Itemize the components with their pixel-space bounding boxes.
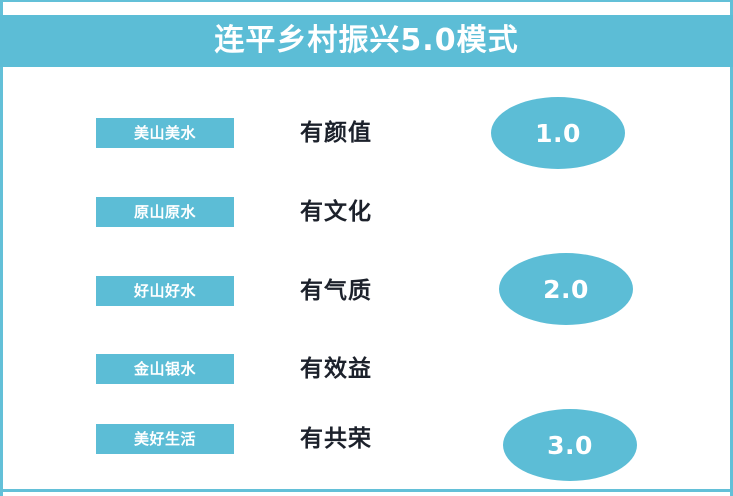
- slide-canvas: 连平乡村振兴5.0模式 美山美水 有颜值 1.0 原山原水 有文化 2.0: [0, 0, 733, 496]
- frame-border-top: [0, 0, 733, 2]
- stage-badge: 美山美水: [96, 118, 234, 148]
- stage-phrase: 有共荣: [300, 417, 450, 461]
- stage-value-ellipse: 1.0: [491, 97, 625, 169]
- stage-phrase-label: 有气质: [300, 280, 372, 303]
- diagram-row: 好山好水 有气质 3.0: [0, 251, 733, 330]
- diagram-row: 原山原水 有文化 2.0: [0, 172, 733, 251]
- diagram-row: 美好生活 有共荣 5.0: [0, 399, 733, 478]
- frame-border-bottom: [0, 489, 733, 492]
- stage-phrase: 有效益: [300, 347, 450, 391]
- stage-badge-label: 美好生活: [134, 432, 196, 447]
- stage-phrase-label: 有文化: [300, 201, 372, 224]
- stage-phrase: 有颜值: [300, 111, 450, 155]
- stage-badge-label: 金山银水: [134, 362, 196, 377]
- stage-badge: 金山银水: [96, 354, 234, 384]
- stage-badge: 好山好水: [96, 276, 234, 306]
- stage-badge-label: 原山原水: [134, 205, 196, 220]
- stage-value-label: 1.0: [535, 121, 581, 146]
- stage-phrase: 有气质: [300, 269, 450, 313]
- stage-phrase-label: 有共荣: [300, 428, 372, 451]
- stage-badge-label: 好山好水: [134, 284, 196, 299]
- stage-phrase-label: 有颜值: [300, 122, 372, 145]
- stage-phrase: 有文化: [300, 190, 450, 234]
- title-banner: 连平乡村振兴5.0模式: [0, 15, 733, 67]
- diagram-row: 金山银水 有效益 4.0: [0, 329, 733, 408]
- diagram-row: 美山美水 有颜值 1.0: [0, 93, 733, 172]
- page-title: 连平乡村振兴5.0模式: [214, 26, 518, 56]
- stage-badge: 原山原水: [96, 197, 234, 227]
- stage-phrase-label: 有效益: [300, 358, 372, 381]
- stage-badge: 美好生活: [96, 424, 234, 454]
- stage-badge-label: 美山美水: [134, 126, 196, 141]
- diagram-rows: 美山美水 有颜值 1.0 原山原水 有文化 2.0 好山好水: [0, 93, 733, 489]
